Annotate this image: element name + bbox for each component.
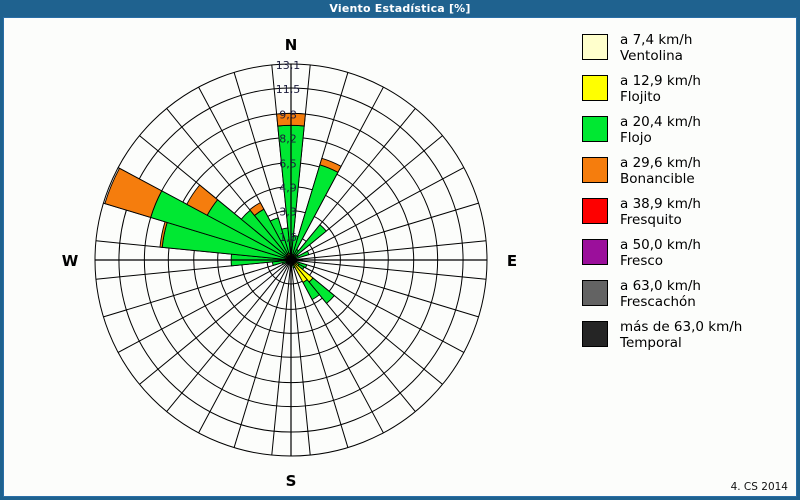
window-title-bar: Viento Estadística [%]: [0, 0, 800, 17]
radial-tick-label: 3,3: [279, 206, 297, 219]
legend-label-flojito: a 12,9 km/h Flojito: [620, 73, 701, 106]
copyright-note: 4. CS 2014: [731, 481, 788, 493]
legend-label-ventolina: a 7,4 km/h Ventolina: [620, 32, 692, 65]
legend-item[interactable]: a 50,0 km/h Fresco: [582, 237, 792, 270]
legend-label-fresquito: a 38,9 km/h Fresquito: [620, 196, 701, 229]
radial-tick-label: 9,8: [279, 108, 297, 121]
radial-tick-label: 11,5: [276, 83, 301, 96]
legend-swatch-flojito: [582, 75, 608, 101]
legend-item[interactable]: a 20,4 km/h Flojo: [582, 114, 792, 147]
legend-label-bonancible: a 29,6 km/h Bonancible: [620, 155, 701, 188]
legend-swatch-flojo: [582, 116, 608, 142]
legend-item[interactable]: más de 63,0 km/h Temporal: [582, 319, 792, 352]
legend-swatch-bonancible: [582, 157, 608, 183]
legend-item[interactable]: a 38,9 km/h Fresquito: [582, 196, 792, 229]
grid-spoke: [118, 260, 291, 352]
legend-item[interactable]: a 29,6 km/h Bonancible: [582, 155, 792, 188]
legend-label-fresco: a 50,0 km/h Fresco: [620, 237, 701, 270]
wind-rose-segment: [105, 168, 162, 217]
polar-axes: [95, 64, 487, 456]
legend-swatch-temporal: [582, 321, 608, 347]
wind-rose-chart: 1,63,34,96,58,29,811,513,1 NESW: [4, 18, 564, 488]
radial-tick-label: 13,1: [276, 59, 301, 72]
window-root: Viento Estadística [%] 1,63,34,96,58,29,…: [0, 0, 800, 500]
legend-label-flojo: a 20,4 km/h Flojo: [620, 114, 701, 147]
compass-label-n: N: [285, 36, 298, 54]
legend-swatch-frescachon: [582, 280, 608, 306]
grid-spoke: [139, 260, 291, 384]
window-title: Viento Estadística [%]: [329, 2, 470, 15]
legend-label-temporal: más de 63,0 km/h Temporal: [620, 319, 742, 352]
legend-swatch-ventolina: [582, 34, 608, 60]
grid-spoke: [103, 260, 291, 317]
grid-spoke: [234, 260, 291, 448]
legend-label-frescachon: a 63,0 km/h Frescachón: [620, 278, 701, 311]
radial-tick-label: 8,2: [279, 132, 297, 145]
legend-item[interactable]: a 63,0 km/h Frescachón: [582, 278, 792, 311]
grid-spoke: [167, 260, 291, 412]
legend-item[interactable]: a 7,4 km/h Ventolina: [582, 32, 792, 65]
legend-item[interactable]: a 12,9 km/h Flojito: [582, 73, 792, 106]
grid-spoke: [199, 260, 291, 433]
compass-label-s: S: [286, 472, 297, 488]
radial-tick-label: 1,6: [279, 231, 297, 244]
compass-label-w: W: [62, 252, 79, 270]
legend: a 7,4 km/h Ventolina a 12,9 km/h Flojito…: [582, 32, 792, 360]
radial-tick-label: 6,5: [279, 158, 297, 171]
radial-tick-label: 4,9: [279, 182, 297, 195]
compass-label-e: E: [507, 252, 517, 270]
legend-swatch-fresquito: [582, 198, 608, 224]
legend-swatch-fresco: [582, 239, 608, 265]
grid-spoke: [291, 260, 464, 352]
chart-panel: 1,63,34,96,58,29,811,513,1 NESW a 7,4 km…: [3, 17, 797, 497]
